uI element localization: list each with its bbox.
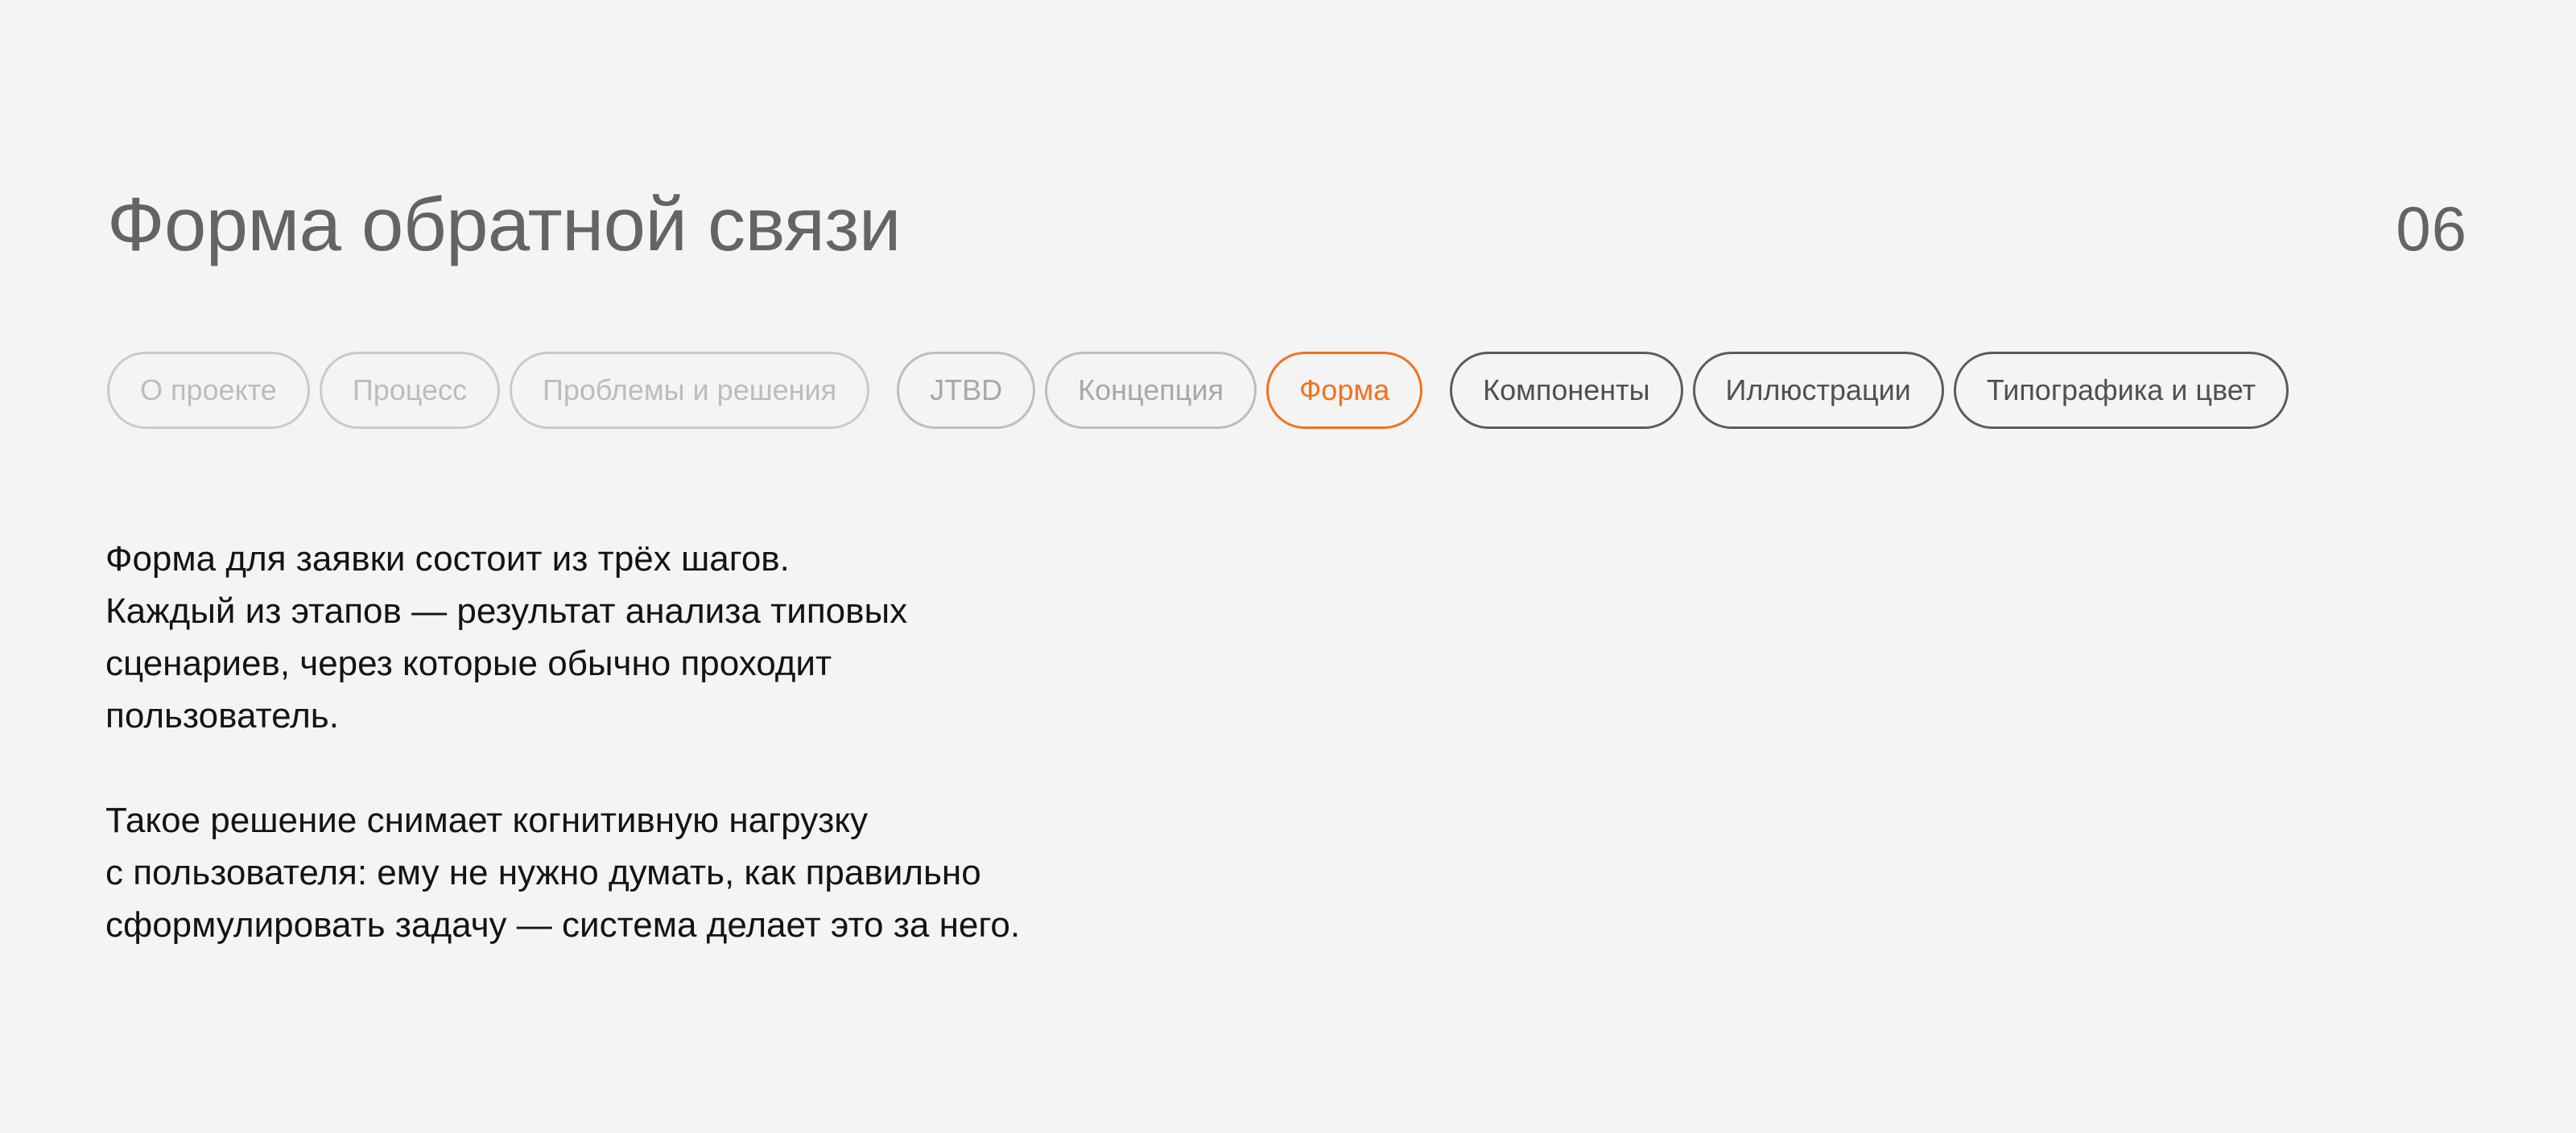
nav-pill-concept[interactable]: Концепция <box>1045 352 1257 429</box>
slide-root: Форма обратной связи 06 О проекте Процес… <box>0 0 2576 1133</box>
nav-pill-typography-and-color[interactable]: Типографика и цвет <box>1954 352 2289 429</box>
nav-pill-components[interactable]: Компоненты <box>1450 352 1682 429</box>
body-copy: Форма для заявки состоит из трёх шагов. … <box>105 533 1715 951</box>
page-title: Форма обратной связи <box>107 183 901 266</box>
nav-group-past: О проекте Процесс Проблемы и решения <box>107 352 869 429</box>
nav-pill-form-active[interactable]: Форма <box>1266 352 1422 429</box>
page-number: 06 <box>2396 187 2467 270</box>
body-paragraph-2: Такое решение снимает когнитивную нагруз… <box>105 794 1715 951</box>
body-paragraph-1: Форма для заявки состоит из трёх шагов. … <box>105 533 1715 742</box>
nav-group-upcoming: Компоненты Иллюстрации Типографика и цве… <box>1450 352 2289 429</box>
section-pill-nav: О проекте Процесс Проблемы и решения JTB… <box>107 352 2289 429</box>
nav-pill-illustrations[interactable]: Иллюстрации <box>1693 352 1944 429</box>
nav-group-current: JTBD Концепция Форма <box>897 352 1422 429</box>
nav-pill-process[interactable]: Процесс <box>320 352 500 429</box>
nav-pill-about[interactable]: О проекте <box>107 352 310 429</box>
slide-header: Форма обратной связи 06 <box>107 183 2467 270</box>
nav-pill-problems-and-solutions[interactable]: Проблемы и решения <box>510 352 869 429</box>
nav-pill-jtbd[interactable]: JTBD <box>897 352 1035 429</box>
